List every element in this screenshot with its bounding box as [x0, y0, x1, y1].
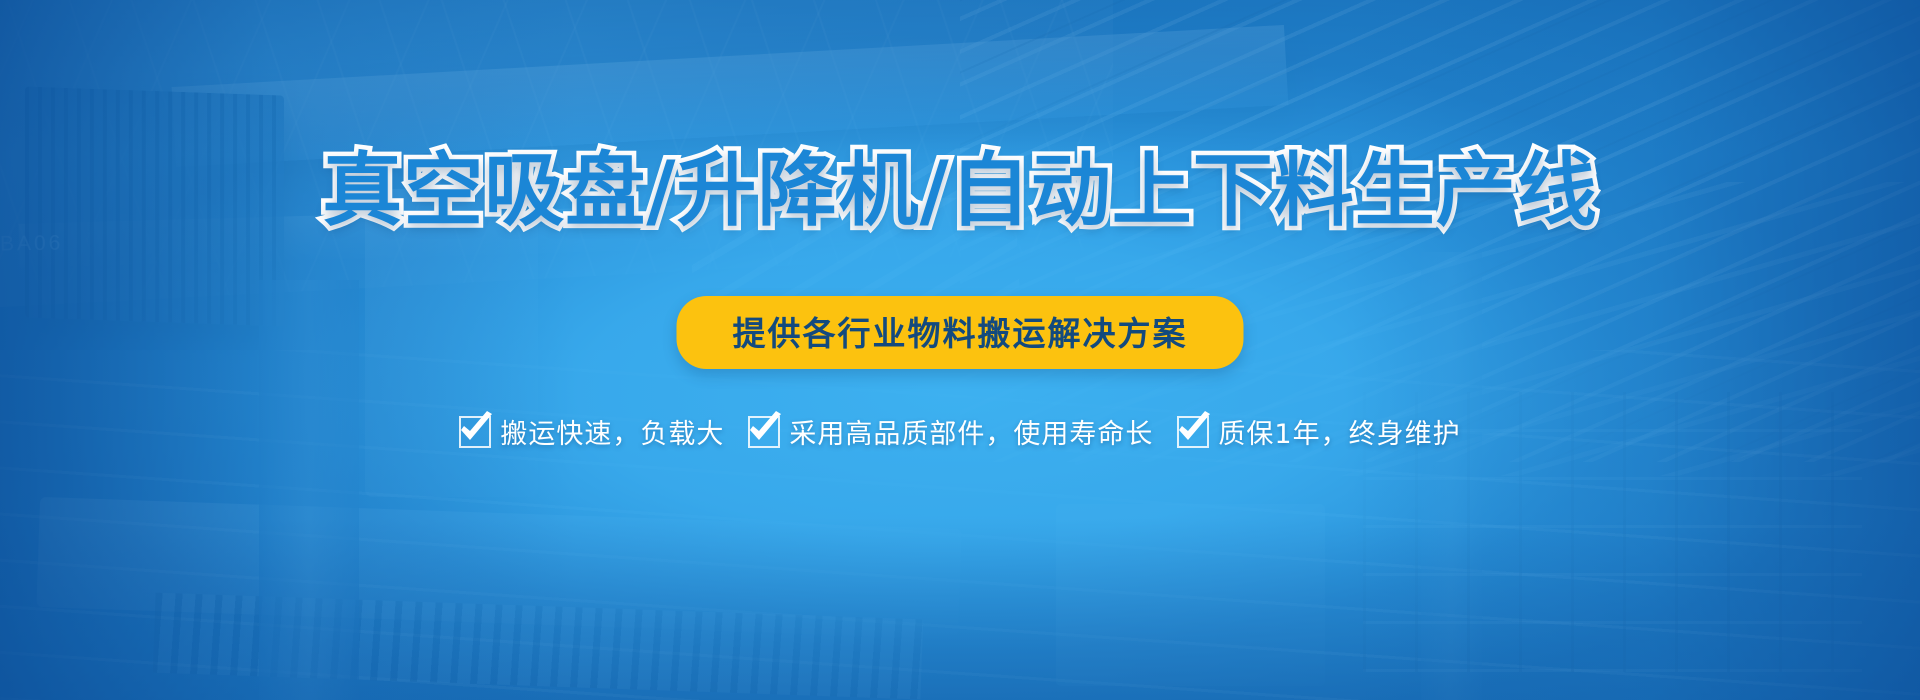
subtitle-pill: 提供各行业物料搬运解决方案 — [677, 296, 1244, 369]
check-icon — [1177, 416, 1209, 448]
check-icon — [459, 416, 491, 448]
subtitle-text: 提供各行业物料搬运解决方案 — [733, 314, 1188, 353]
banner-headline: 真空吸盘/升降机/自动上下料生产线 — [0, 126, 1920, 242]
feature-item: 质保1年，终身维护 — [1177, 412, 1460, 451]
feature-label: 搬运快速，负载大 — [500, 412, 724, 451]
feature-label: 采用高品质部件，使用寿命长 — [789, 412, 1153, 451]
promo-banner: BA06 真空吸盘/升降机/自动上下料生产线 提供各行业物料搬运解决方案 搬运快… — [0, 0, 1920, 700]
feature-item: 采用高品质部件，使用寿命长 — [748, 412, 1153, 451]
feature-item: 搬运快速，负载大 — [459, 412, 724, 451]
feature-list: 搬运快速，负载大 采用高品质部件，使用寿命长 质保1 — [0, 412, 1920, 451]
feature-label: 质保1年，终身维护 — [1218, 412, 1460, 451]
banner-content: 真空吸盘/升降机/自动上下料生产线 提供各行业物料搬运解决方案 搬运快速，负载大 — [0, 0, 1920, 700]
check-icon — [748, 416, 780, 448]
